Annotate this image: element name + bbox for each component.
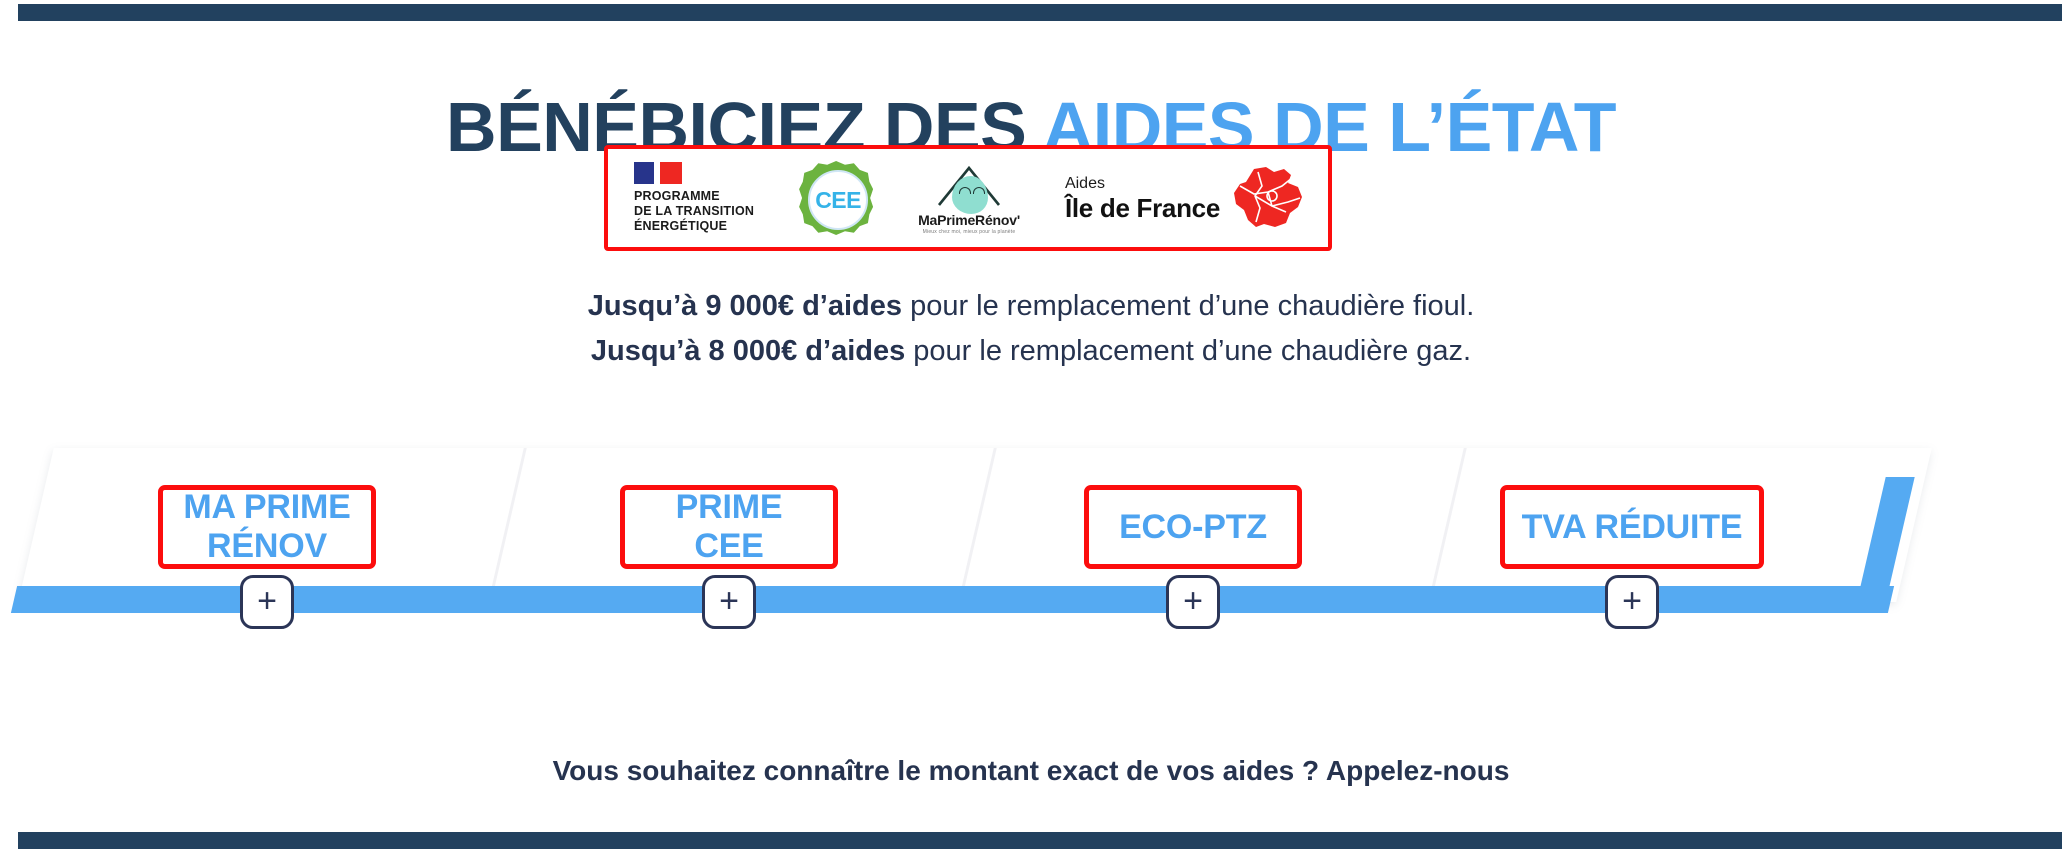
expand-button-ma-prime-renov[interactable]: + (240, 575, 294, 629)
panel-divider-2 (958, 448, 997, 602)
aid-amount-rest-fioul: pour le remplacement d’une chaudière fio… (902, 290, 1474, 322)
expand-button-tva-reduite[interactable]: + (1605, 575, 1659, 629)
expand-button-prime-cee[interactable]: + (702, 575, 756, 629)
aid-box-tva-reduite-label: TVA RÉDUITE (1522, 508, 1743, 547)
aid-label-line1: MA PRIME (183, 488, 350, 526)
ile-de-france-map-icon (1228, 166, 1306, 230)
panel-divider-3 (1428, 448, 1467, 602)
aid-amount-line-gaz: Jusqu’à 8 000€ d’aides pour le remplacem… (0, 329, 2062, 374)
aid-label-line1: PRIME (676, 488, 783, 526)
logo-aides-ile-de-france: Aides Île de France (1065, 149, 1306, 247)
aid-box-ma-prime-renov-label: MA PRIMERÉNOV (183, 488, 350, 566)
maprimerenov-label: MaPrimeRénov' (918, 212, 1020, 228)
aid-label-line2: CEE (694, 527, 763, 565)
idf-small-label: Aides (1065, 176, 1220, 192)
footer-question: Vous souhaitez connaître le montant exac… (0, 755, 2062, 787)
partner-logo-strip: PROGRAMME DE LA TRANSITION ÉNERGÉTIQUE C… (604, 145, 1332, 251)
aid-box-eco-ptz[interactable]: ECO-PTZ (1084, 485, 1302, 569)
aid-box-ma-prime-renov[interactable]: MA PRIMERÉNOV (158, 485, 376, 569)
aid-box-prime-cee[interactable]: PRIMECEE (620, 485, 838, 569)
bottom-divider-bar (18, 832, 2062, 849)
maprimerenov-tagline: Mieux chez moi, mieux pour la planète (918, 229, 1020, 235)
maprimerenov-house-icon (921, 161, 1017, 211)
aid-box-prime-cee-label: PRIMECEE (676, 488, 783, 566)
aid-amount-line-fioul: Jusqu’à 9 000€ d’aides pour le remplacem… (0, 284, 2062, 329)
pte-line-2: DE LA TRANSITION (634, 204, 754, 219)
panel-divider-1 (488, 448, 527, 602)
top-divider-bar (18, 4, 2062, 21)
aid-amount-lead-fioul: Jusqu’à 9 000€ d’aides (588, 290, 902, 322)
pte-line-3: ÉNERGÉTIQUE (634, 219, 754, 234)
expand-button-eco-ptz[interactable]: + (1166, 575, 1220, 629)
french-flag-icon (634, 162, 682, 184)
cee-label: CEE (815, 187, 861, 214)
aid-amount-lines: Jusqu’à 9 000€ d’aides pour le remplacem… (0, 284, 2062, 374)
aid-amount-rest-gaz: pour le remplacement d’une chaudière gaz… (905, 335, 1471, 367)
idf-big-label: Île de France (1065, 195, 1220, 221)
aid-box-tva-reduite[interactable]: TVA RÉDUITE (1500, 485, 1764, 569)
logo-programme-transition-energetique: PROGRAMME DE LA TRANSITION ÉNERGÉTIQUE (634, 149, 754, 247)
logo-maprimerenov: MaPrimeRénov' Mieux chez moi, mieux pour… (918, 149, 1020, 247)
aid-box-eco-ptz-label: ECO-PTZ (1119, 508, 1267, 547)
aid-label-line2: RÉNOV (207, 527, 327, 565)
aid-amount-lead-gaz: Jusqu’à 8 000€ d’aides (591, 335, 905, 367)
aid-schemes-banner: MA PRIMERÉNOV + PRIMECEE + ECO-PTZ + TVA… (0, 448, 2062, 648)
logo-cee: CEE (799, 149, 873, 247)
pte-line-1: PROGRAMME (634, 189, 754, 204)
